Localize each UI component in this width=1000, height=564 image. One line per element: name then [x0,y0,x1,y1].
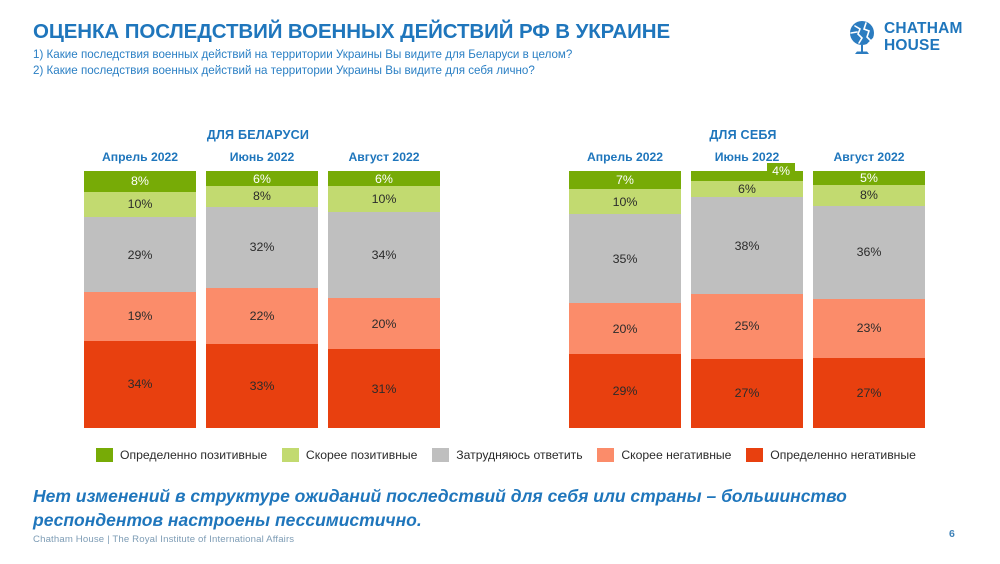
bar-segment[interactable]: 20% [328,298,440,349]
conclusion-line-2: респондентов настроены пессимистично. [33,508,953,532]
chart-column: Август 2022 5%8%36%23%27% [813,150,925,428]
bar-segment[interactable]: 33% [206,344,318,428]
bar-segment-label: 27% [857,386,882,400]
legend-item[interactable]: Скорее негативные [597,448,731,462]
logo-line-1: CHATHAM [884,20,963,37]
legend-swatch-icon [432,448,449,462]
stacked-bar[interactable]: 8%10%29%19%34% [84,171,196,428]
column-label: Апрель 2022 [569,150,681,164]
bar-segment-label: 6% [375,172,393,186]
column-label: Апрель 2022 [84,150,196,164]
bar-segment-label: 20% [613,322,638,336]
legend-item[interactable]: Затрудняюсь ответить [432,448,582,462]
chart-column: Апрель 2022 8%10%29%19%34% [84,150,196,428]
subtitle-question-1: 1) Какие последствия военных действий на… [33,48,572,61]
bar-segment-label: 23% [857,321,882,335]
legend-label: Определенно негативные [770,448,916,462]
chart-column: Июнь 2022 4%6%38%25%27% [691,150,803,428]
chart-column: Июнь 2022 6%8%32%22%33% [206,150,318,428]
bar-segment-callout-label: 4% [767,163,795,180]
bar-segment[interactable]: 8% [813,185,925,206]
legend-swatch-icon [282,448,299,462]
bar-segment[interactable]: 6% [328,171,440,186]
bar-segment[interactable]: 23% [813,299,925,358]
logo-line-2: HOUSE [884,37,963,54]
bar-segment-label: 5% [860,171,878,185]
legend-item[interactable]: Определенно негативные [746,448,916,462]
bar-segment-label: 10% [372,192,397,206]
bar-segment-label: 22% [250,309,275,323]
chart-column: Апрель 2022 7%10%35%20%29% [569,150,681,428]
bar-segment[interactable]: 25% [691,294,803,358]
page-title: ОЦЕНКА ПОСЛЕДСТВИЙ ВОЕННЫХ ДЕЙСТВИЙ РФ В… [33,20,670,44]
stacked-bar[interactable]: 4%6%38%25%27% [691,171,803,428]
bar-segment[interactable]: 38% [691,197,803,295]
legend-label: Скорее позитивные [306,448,418,462]
bar-segment[interactable]: 10% [84,192,196,218]
bar-segment-label: 10% [613,195,638,209]
legend-item[interactable]: Определенно позитивные [96,448,267,462]
chart-column: Август 2022 6%10%34%20%31% [328,150,440,428]
bar-segment-label: 8% [860,188,878,202]
conclusion-line-1: Нет изменений в структуре ожиданий после… [33,484,953,508]
bar-segment-label: 34% [372,248,397,262]
bar-segment-label: 38% [735,239,760,253]
bar-segment[interactable]: 34% [84,341,196,428]
bar-segment[interactable]: 36% [813,206,925,299]
bar-segment-label: 7% [616,173,634,187]
bar-segment-label: 36% [857,245,882,259]
legend-swatch-icon [597,448,614,462]
bar-segment[interactable]: 20% [569,303,681,354]
bar-segment[interactable]: 8% [84,171,196,192]
panel-title: ДЛЯ СЕБЯ [563,128,923,142]
bar-segment-label: 19% [128,309,153,323]
slide-header: ОЦЕНКА ПОСЛЕДСТВИЙ ВОЕННЫХ ДЕЙСТВИЙ РФ В… [0,0,1000,96]
stacked-bar[interactable]: 6%10%34%20%31% [328,171,440,428]
bar-segment[interactable]: 4% [691,171,803,181]
bar-segment-label: 6% [738,182,756,196]
bar-segment[interactable]: 10% [569,189,681,214]
legend-label: Затрудняюсь ответить [456,448,582,462]
bar-segment[interactable]: 10% [328,186,440,211]
legend-swatch-icon [96,448,113,462]
bar-segment[interactable]: 29% [84,217,196,292]
bar-segment-label: 33% [250,379,275,393]
bar-segment[interactable]: 19% [84,292,196,341]
bar-segment-label: 27% [735,386,760,400]
legend-label: Скорее негативные [621,448,731,462]
conclusion-text: Нет изменений в структуре ожиданий после… [33,484,953,532]
bar-segment-label: 34% [128,377,153,391]
bar-segment-label: 20% [372,317,397,331]
bar-segment-label: 31% [372,382,397,396]
subtitle-question-2: 2) Какие последствия военных действий на… [33,64,535,77]
chart-legend: Определенно позитивныеСкорее позитивныеЗ… [96,448,916,462]
chatham-house-logo-text: CHATHAM HOUSE [884,20,963,54]
column-label: Август 2022 [813,150,925,164]
bar-segment[interactable]: 8% [206,186,318,206]
bar-segment[interactable]: 22% [206,288,318,344]
page-number: 6 [949,528,955,540]
bar-segment[interactable]: 6% [691,181,803,196]
bar-segment-label: 29% [128,248,153,262]
bar-segment[interactable]: 6% [206,171,318,186]
bar-segment-label: 8% [131,174,149,188]
column-label: Июнь 2022 [206,150,318,164]
column-label: Июнь 2022 [691,150,803,164]
bar-segment-label: 8% [253,189,271,203]
legend-label: Определенно позитивные [120,448,267,462]
stacked-bar[interactable]: 5%8%36%23%27% [813,171,925,428]
bar-segment-label: 6% [253,172,271,186]
legend-swatch-icon [746,448,763,462]
bar-segment[interactable]: 29% [569,354,681,428]
bar-segment-label: 25% [735,319,760,333]
bar-segment[interactable]: 32% [206,207,318,288]
bar-segment[interactable]: 34% [328,212,440,299]
bar-segment[interactable]: 5% [813,171,925,185]
bar-segment[interactable]: 35% [569,214,681,303]
chatham-house-logo: CHATHAM HOUSE [848,18,980,62]
panel-title: ДЛЯ БЕЛАРУСИ [78,128,438,142]
bar-segment-label: 10% [128,197,153,211]
bar-segment[interactable]: 31% [328,349,440,428]
bar-segment[interactable]: 27% [813,358,925,428]
chatham-house-globe-icon [848,20,882,58]
legend-item[interactable]: Скорее позитивные [282,448,418,462]
bar-segment-label: 32% [250,240,275,254]
stacked-bar[interactable]: 7%10%35%20%29% [569,171,681,428]
column-label: Август 2022 [328,150,440,164]
bar-segment-label: 35% [613,252,638,266]
bar-segment[interactable]: 7% [569,171,681,189]
footer-attribution: Chatham House | The Royal Institute of I… [33,534,294,545]
bar-segment-label: 29% [613,384,638,398]
stacked-bar[interactable]: 6%8%32%22%33% [206,171,318,428]
bar-segment[interactable]: 27% [691,359,803,428]
